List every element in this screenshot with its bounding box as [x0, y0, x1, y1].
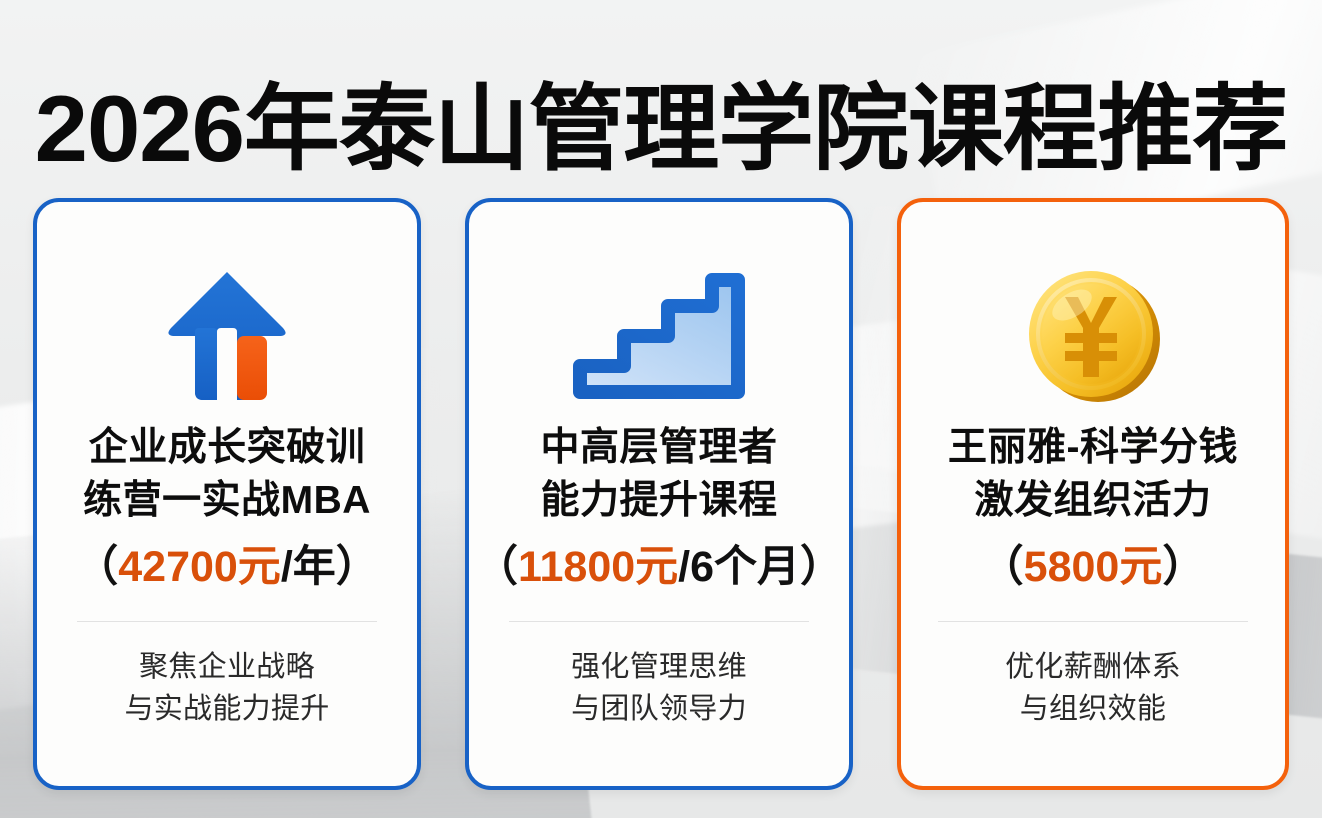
arrow-up-icon [165, 268, 289, 404]
gold-coin-yuan-icon [1022, 265, 1164, 407]
course-card[interactable]: 中高层管理者 能力提升课程 （11800元/6个月） 强化管理思维 与团队领导力 [465, 198, 853, 790]
stairs-icon [570, 270, 748, 402]
course-description: 优化薪酬体系 与组织效能 [1005, 646, 1181, 730]
price-open-paren: （ [475, 543, 518, 591]
price-amount: 5800元 [1024, 543, 1163, 591]
card-icon-slot [1022, 250, 1164, 422]
card-divider [509, 621, 809, 622]
course-price: （11800元/6个月） [475, 541, 843, 595]
price-amount: 11800元 [518, 543, 678, 591]
card-divider [77, 621, 377, 622]
course-card[interactable]: 企业成长突破训 练营一实战MBA （42700元/年） 聚焦企业战略 与实战能力… [33, 198, 421, 790]
price-open-paren: （ [981, 543, 1024, 591]
price-close-paren: ） [800, 543, 843, 591]
price-close-paren: ） [1162, 543, 1205, 591]
price-open-paren: （ [75, 543, 118, 591]
course-price: （5800元） [981, 541, 1206, 595]
card-icon-slot [570, 250, 748, 422]
course-title: 中高层管理者 能力提升课程 [532, 422, 785, 527]
price-unit: /年 [281, 543, 336, 591]
price-close-paren: ） [336, 543, 379, 591]
course-description: 聚焦企业战略 与实战能力提升 [124, 646, 329, 730]
course-title: 王丽雅-科学分钱 激发组织活力 [940, 422, 1246, 527]
page-title: 2026年泰山管理学院课程推荐 [0, 77, 1322, 180]
poster-canvas: 2026年泰山管理学院课程推荐 [0, 0, 1322, 818]
price-amount: 42700元 [118, 543, 281, 591]
course-description: 强化管理思维 与团队领导力 [571, 646, 747, 730]
course-card-list: 企业成长突破训 练营一实战MBA （42700元/年） 聚焦企业战略 与实战能力… [33, 198, 1289, 790]
card-icon-slot [165, 250, 289, 422]
course-price: （42700元/年） [75, 541, 379, 595]
card-divider [938, 621, 1248, 622]
course-card[interactable]: 王丽雅-科学分钱 激发组织活力 （5800元） 优化薪酬体系 与组织效能 [897, 198, 1289, 790]
price-unit: /6个月 [678, 543, 800, 591]
course-title: 企业成长突破训 练营一实战MBA [75, 422, 379, 527]
